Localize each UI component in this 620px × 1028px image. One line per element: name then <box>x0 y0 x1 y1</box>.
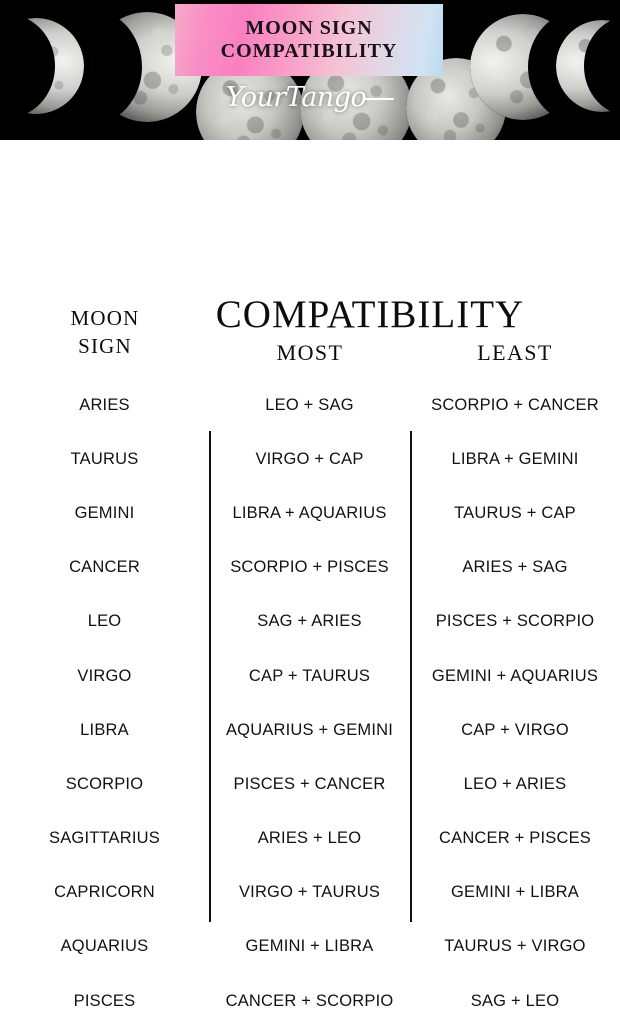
column-header-moon-sign-line1: MOON <box>20 304 190 332</box>
cell-moon-sign: PISCES <box>0 992 209 1011</box>
column-header-moon-sign: MOON SIGN <box>20 304 190 361</box>
waxing-crescent-moon-icon <box>0 18 84 114</box>
cell-most: ARIES + LEO <box>209 829 410 848</box>
cell-most: CANCER + SCORPIO <box>209 992 410 1011</box>
page-title: COMPATIBILITY <box>160 292 580 337</box>
table-row: SAGITTARIUS ARIES + LEO CANCER + PISCES <box>0 812 620 866</box>
cell-least: LEO + ARIES <box>410 775 620 794</box>
cell-least: LIBRA + GEMINI <box>410 450 620 469</box>
cell-moon-sign: SAGITTARIUS <box>0 829 209 848</box>
cell-most: VIRGO + TAURUS <box>209 883 410 902</box>
table-body: ARIES LEO + SAG SCORPIO + CANCER TAURUS … <box>0 378 620 1028</box>
cell-moon-sign: AQUARIUS <box>0 937 209 956</box>
column-header-least: LEAST <box>420 340 610 366</box>
cell-least: SAG + LEO <box>410 992 620 1011</box>
header-banner: MOON SIGN COMPATIBILITY YourTango <box>0 0 620 140</box>
cell-most: PISCES + CANCER <box>209 775 410 794</box>
cell-moon-sign: ARIES <box>0 396 209 415</box>
cell-most: AQUARIUS + GEMINI <box>209 721 410 740</box>
title-line-1: MOON SIGN <box>245 18 372 39</box>
table-row: TAURUS VIRGO + CAP LIBRA + GEMINI <box>0 432 620 486</box>
column-header-most: MOST <box>200 340 420 366</box>
cell-moon-sign: SCORPIO <box>0 775 209 794</box>
cell-most: LIBRA + AQUARIUS <box>209 504 410 523</box>
column-header-moon-sign-line2: SIGN <box>20 332 190 360</box>
table-row: CAPRICORN VIRGO + TAURUS GEMINI + LIBRA <box>0 866 620 920</box>
table-row: AQUARIUS GEMINI + LIBRA TAURUS + VIRGO <box>0 920 620 974</box>
table-row: GEMINI LIBRA + AQUARIUS TAURUS + CAP <box>0 486 620 540</box>
cell-least: PISCES + SCORPIO <box>410 612 620 631</box>
cell-most: CAP + TAURUS <box>209 667 410 686</box>
table-row: LIBRA AQUARIUS + GEMINI CAP + VIRGO <box>0 703 620 757</box>
cell-moon-sign: CANCER <box>0 558 209 577</box>
cell-moon-sign: GEMINI <box>0 504 209 523</box>
cell-least: CANCER + PISCES <box>410 829 620 848</box>
table-row: PISCES CANCER + SCORPIO SAG + LEO <box>0 974 620 1028</box>
table-row: VIRGO CAP + TAURUS GEMINI + AQUARIUS <box>0 649 620 703</box>
cell-moon-sign: TAURUS <box>0 450 209 469</box>
table-row: SCORPIO PISCES + CANCER LEO + ARIES <box>0 757 620 811</box>
cell-moon-sign: LEO <box>0 612 209 631</box>
cell-least: GEMINI + AQUARIUS <box>410 667 620 686</box>
cell-most: GEMINI + LIBRA <box>209 937 410 956</box>
cell-moon-sign: VIRGO <box>0 667 209 686</box>
cell-least: GEMINI + LIBRA <box>410 883 620 902</box>
compatibility-table: COMPATIBILITY MOON SIGN MOST LEAST ARIES… <box>0 140 620 900</box>
cell-most: LEO + SAG <box>209 396 410 415</box>
cell-least: TAURUS + VIRGO <box>410 937 620 956</box>
cell-most: SAG + ARIES <box>209 612 410 631</box>
cell-most: SCORPIO + PISCES <box>209 558 410 577</box>
cell-least: SCORPIO + CANCER <box>410 396 620 415</box>
cell-least: CAP + VIRGO <box>410 721 620 740</box>
cell-least: ARIES + SAG <box>410 558 620 577</box>
cell-most: VIRGO + CAP <box>209 450 410 469</box>
table-row: LEO SAG + ARIES PISCES + SCORPIO <box>0 595 620 649</box>
title-plate: MOON SIGN COMPATIBILITY <box>175 4 443 76</box>
cell-least: TAURUS + CAP <box>410 504 620 523</box>
table-row: ARIES LEO + SAG SCORPIO + CANCER <box>0 378 620 432</box>
cell-moon-sign: CAPRICORN <box>0 883 209 902</box>
table-row: CANCER SCORPIO + PISCES ARIES + SAG <box>0 541 620 595</box>
cell-moon-sign: LIBRA <box>0 721 209 740</box>
title-line-2: COMPATIBILITY <box>221 41 398 62</box>
